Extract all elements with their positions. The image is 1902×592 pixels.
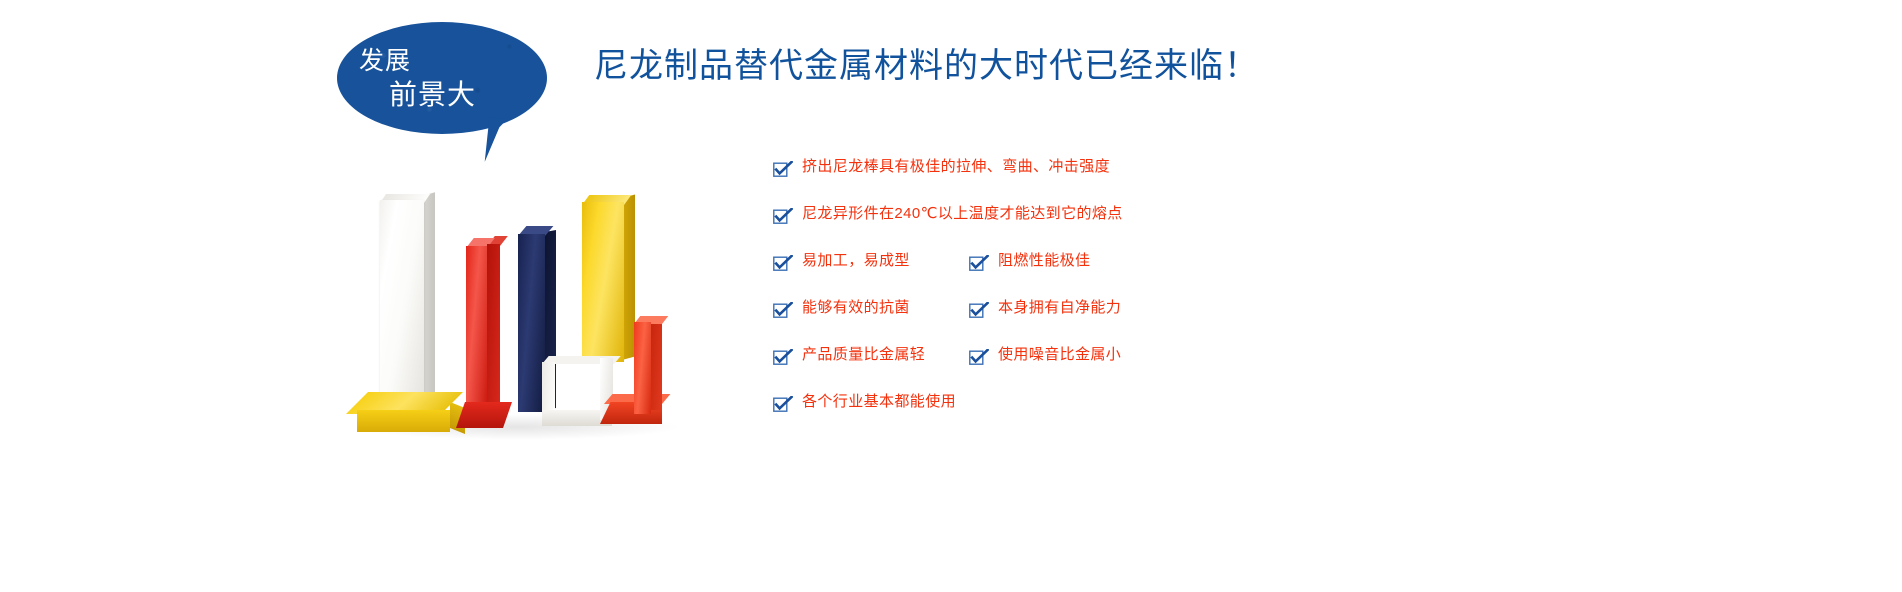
red-profile-foot (456, 402, 512, 428)
feature-item: 阻燃性能极佳 (969, 252, 1090, 271)
checkbox-checked-icon (969, 255, 985, 271)
feature-text: 阻燃性能极佳 (998, 252, 1090, 269)
feature-text: 各个行业基本都能使用 (802, 393, 956, 410)
orange-angle-front (634, 322, 651, 414)
feature-text: 挤出尼龙棒具有极佳的拉伸、弯曲、冲击强度 (802, 158, 1110, 175)
feature-text: 使用噪音比金属小 (998, 346, 1121, 363)
yellow-slab-front (582, 202, 624, 362)
feature-row: 各个行业基本都能使用 (773, 393, 1393, 440)
checkbox-checked-icon (969, 349, 985, 365)
checkbox-checked-icon (773, 161, 789, 177)
checkbox-checked-icon (773, 302, 789, 318)
checkbox-checked-icon (773, 208, 789, 224)
feature-item: 能够有效的抗菌 (773, 299, 910, 318)
red-profile-back (487, 244, 500, 410)
yellow-base-front (357, 410, 450, 432)
feature-row: 产品质量比金属轻 使用噪音比金属小 (773, 346, 1393, 393)
feature-item: 尼龙异形件在240℃以上温度才能达到它的熔点 (773, 205, 1123, 224)
feature-list: 挤出尼龙棒具有极佳的拉伸、弯曲、冲击强度 尼龙异形件在240℃以上温度才能达到它… (773, 158, 1393, 440)
feature-item: 易加工，易成型 (773, 252, 910, 271)
page-title: 尼龙制品替代金属材料的大时代已经来临！ (594, 49, 1259, 83)
feature-text: 尼龙异形件在240℃以上温度才能达到它的熔点 (802, 205, 1123, 222)
feature-row: 能够有效的抗菌 本身拥有自净能力 (773, 299, 1393, 346)
red-profile-front (466, 246, 487, 412)
checkbox-checked-icon (773, 255, 789, 271)
feature-item: 各个行业基本都能使用 (773, 393, 956, 412)
checkbox-checked-icon (773, 349, 789, 365)
speech-bubble-line-1: 发展 (359, 48, 411, 74)
feature-item: 本身拥有自净能力 (969, 299, 1121, 318)
feature-text: 本身拥有自净能力 (998, 299, 1121, 316)
navy-bar-front (518, 234, 545, 412)
checkbox-checked-icon (773, 396, 789, 412)
feature-item: 挤出尼龙棒具有极佳的拉伸、弯曲、冲击强度 (773, 158, 1110, 177)
feature-row: 尼龙异形件在240℃以上温度才能达到它的熔点 (773, 205, 1393, 252)
feature-text: 易加工，易成型 (802, 252, 910, 269)
feature-row: 挤出尼龙棒具有极佳的拉伸、弯曲、冲击强度 (773, 158, 1393, 205)
promo-banner: 发展 前景大 尼龙制品替代金属材料的大时代已经来临！ (0, 0, 1902, 592)
white-slab-front (380, 200, 424, 398)
speech-bubble: 发展 前景大 (337, 22, 547, 142)
speech-bubble-text: 发展 前景大 (337, 22, 547, 134)
feature-text: 能够有效的抗菌 (802, 299, 910, 316)
checkbox-checked-icon (969, 302, 985, 318)
feature-text: 产品质量比金属轻 (802, 346, 925, 363)
feature-item: 使用噪音比金属小 (969, 346, 1121, 365)
feature-row: 易加工，易成型 阻燃性能极佳 (773, 252, 1393, 299)
speech-bubble-line-2: 前景大 (389, 80, 476, 109)
orange-angle-side (651, 318, 662, 410)
feature-item: 产品质量比金属轻 (773, 346, 925, 365)
nylon-profiles-photo (352, 186, 697, 454)
